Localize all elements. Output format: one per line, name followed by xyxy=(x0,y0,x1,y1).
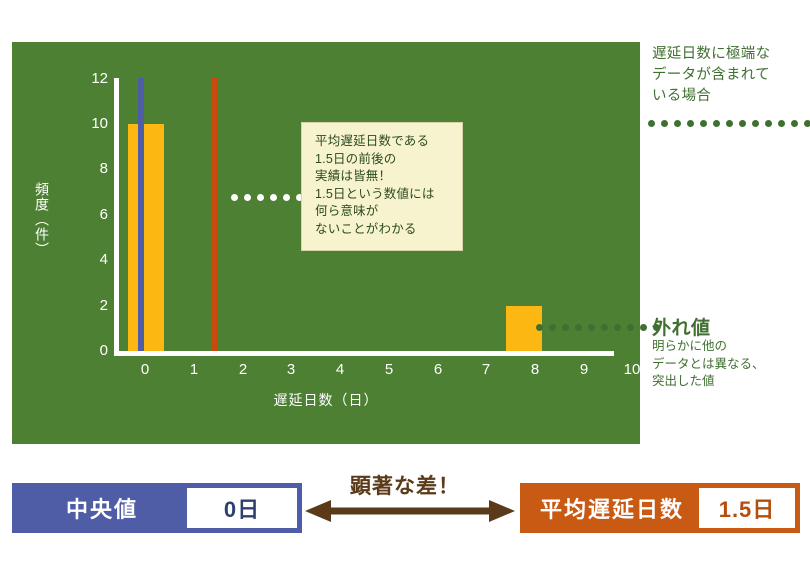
bar-0 xyxy=(128,124,164,351)
context-note-line-2: データが含まれて xyxy=(652,65,810,86)
x-tick-5: 5 xyxy=(374,362,404,377)
x-tick-0: 0 xyxy=(130,362,160,377)
context-note-dots xyxy=(648,120,810,127)
mean-summary-box: 平均遅延日数 1.5日 xyxy=(520,483,800,533)
outlier-note-line-1: 明らかに他の xyxy=(652,338,802,356)
y-tick-10: 10 xyxy=(72,116,108,131)
y-tick-6: 6 xyxy=(72,207,108,222)
mean-label: 平均遅延日数 xyxy=(525,492,699,524)
y-tick-2: 2 xyxy=(72,298,108,313)
median-line xyxy=(138,78,144,351)
context-note-line-1: 遅延日数に極端な xyxy=(652,44,810,65)
infographic-root: 12 10 8 6 4 2 0 xyxy=(0,0,810,585)
outlier-note-body: 明らかに他の データとは異なる、 突出した値 xyxy=(652,338,802,391)
x-tick-10: 10 xyxy=(617,362,647,377)
median-label: 中央値 xyxy=(17,492,187,524)
mean-line xyxy=(211,78,217,351)
double-arrow-icon xyxy=(305,500,515,522)
y-tick-0: 0 xyxy=(72,343,108,358)
outlier-note-line-3: 突出した値 xyxy=(652,373,802,391)
difference-arrow xyxy=(305,500,515,522)
x-tick-1: 1 xyxy=(179,362,209,377)
callout-line-3: 実績は皆無！ xyxy=(315,168,451,186)
callout-line-2: 1.5日の前後の xyxy=(315,151,451,169)
y-axis-title: 頻度（件） xyxy=(30,182,52,257)
x-tick-4: 4 xyxy=(325,362,355,377)
mean-connector-dots xyxy=(231,194,303,201)
x-tick-8: 8 xyxy=(520,362,550,377)
mean-value: 1.5日 xyxy=(699,488,795,528)
x-tick-7: 7 xyxy=(471,362,501,377)
outlier-connector-dots xyxy=(536,324,660,331)
callout-line-5: 何ら意味が xyxy=(315,203,451,221)
y-tick-4: 4 xyxy=(72,252,108,267)
outlier-note-line-2: データとは異なる、 xyxy=(652,356,802,374)
x-axis-line xyxy=(114,351,614,356)
callout-line-1: 平均遅延日数である xyxy=(315,133,451,151)
y-tick-12: 12 xyxy=(72,71,108,86)
context-note: 遅延日数に極端な データが含まれて いる場合 xyxy=(652,44,810,107)
median-summary-box: 中央値 0日 xyxy=(12,483,302,533)
median-value: 0日 xyxy=(187,488,297,528)
x-tick-2: 2 xyxy=(228,362,258,377)
outlier-note-title: 外れ値 xyxy=(652,313,711,340)
x-tick-9: 9 xyxy=(569,362,599,377)
plot-area: 12 10 8 6 4 2 0 xyxy=(12,42,640,444)
difference-label: 顕著な差！ xyxy=(330,470,480,500)
chart-panel: 12 10 8 6 4 2 0 xyxy=(12,42,640,444)
callout-line-4: 1.5日という数値には xyxy=(315,186,451,204)
x-tick-6: 6 xyxy=(423,362,453,377)
x-tick-3: 3 xyxy=(276,362,306,377)
x-axis-title: 遅延日数（日） xyxy=(12,390,640,410)
callout-note: 平均遅延日数である 1.5日の前後の 実績は皆無！ 1.5日という数値には 何ら… xyxy=(301,122,463,251)
callout-line-6: ないことがわかる xyxy=(315,221,451,239)
context-note-line-3: いる場合 xyxy=(652,86,810,107)
y-tick-8: 8 xyxy=(72,161,108,176)
